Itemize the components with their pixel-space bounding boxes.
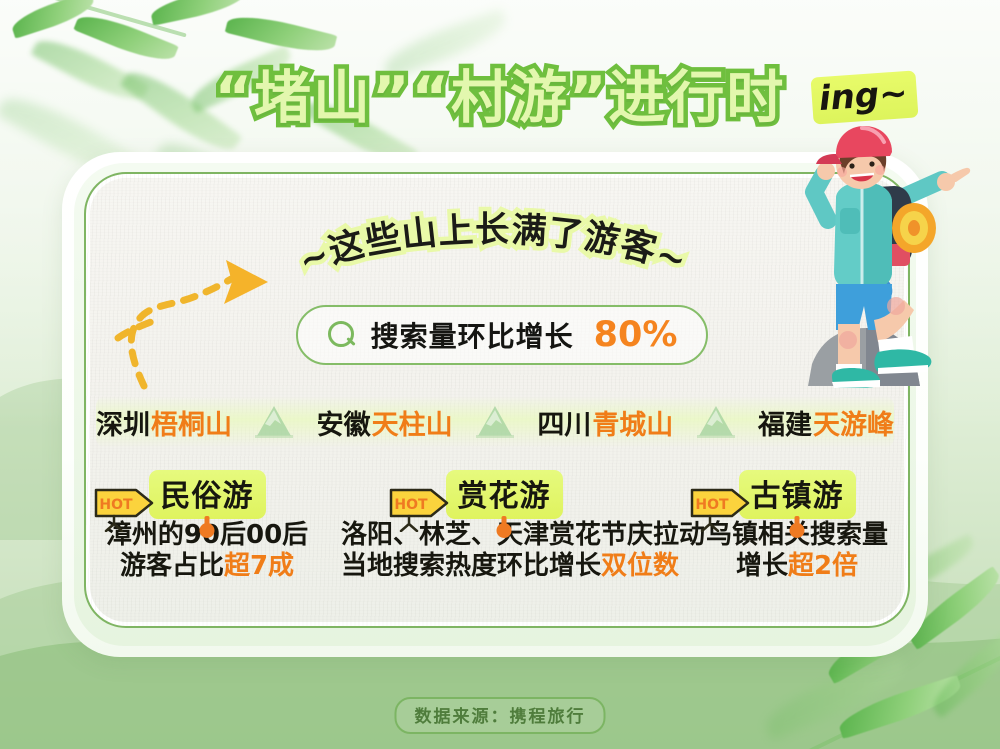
mountain-name: 青城山 <box>592 403 673 442</box>
stat-card-header: HOT 古镇游 <box>694 470 900 520</box>
stat-card-line2-highlight: 超2倍 <box>788 551 858 581</box>
search-stat-pill: 搜索量环比增长 80% <box>296 305 708 365</box>
stat-card-line2-prefix: 增长 <box>736 551 788 581</box>
mountain-item-3: 福建 天游峰 <box>758 403 894 442</box>
mountain-name: 梧桐山 <box>151 403 232 442</box>
infographic-canvas: “堵山”“村游”进行时 ing~ ~这些山上长满了游客~ 搜索量环比增长 80%… <box>0 0 1000 749</box>
stat-card-line2: 当地搜索热度环比增长双位数 <box>341 551 667 582</box>
svg-text:HOT: HOT <box>695 497 729 513</box>
mountain-city: 安徽 <box>317 403 371 442</box>
mountain-item-1: 安徽 天柱山 <box>317 403 453 442</box>
data-source-footer: 数据来源：携程旅行 <box>395 697 606 734</box>
hiker-character <box>762 124 992 399</box>
stat-card-header: HOT 民俗游 <box>100 470 314 520</box>
stat-card-title: 赏花游 <box>446 470 563 519</box>
stat-card-title: 民俗游 <box>149 470 266 519</box>
stat-card-0: HOT 民俗游 漳州的90后00后 游客占比超7成 <box>100 470 314 620</box>
mountain-name: 天柱山 <box>372 403 453 442</box>
stat-card-line2: 增长超2倍 <box>694 551 900 582</box>
mountain-city: 四川 <box>537 403 591 442</box>
svg-text:HOT: HOT <box>99 497 133 513</box>
ing-badge: ing~ <box>810 70 918 124</box>
curved-subtitle-text: ~这些山上长满了游客~ <box>293 211 692 283</box>
hot-signpost-icon: HOT <box>688 486 754 532</box>
page-title: “堵山”“村游”进行时 <box>215 52 786 134</box>
pin-marker-icon <box>790 516 805 538</box>
mountain-icon <box>472 402 518 442</box>
stat-card-2: HOT 古镇游 乌镇相关搜索量 增长超2倍 <box>694 470 900 620</box>
hot-signpost-icon: HOT <box>387 486 453 532</box>
mountain-icon <box>251 402 297 442</box>
mountain-city: 福建 <box>758 403 812 442</box>
dashed-arrow-icon <box>100 260 280 390</box>
stat-card-line2-prefix: 当地搜索热度环比增长 <box>341 551 601 581</box>
curved-subtitle: ~这些山上长满了游客~ <box>258 216 728 306</box>
stat-card-1: HOT 赏花游 洛阳、林芝、天津赏花节庆拉动 当地搜索热度环比增长双位数 <box>341 470 667 620</box>
stat-card-list: HOT 民俗游 漳州的90后00后 游客占比超7成 HOT <box>100 470 900 620</box>
stat-card-header: HOT 赏花游 <box>341 470 667 520</box>
stat-card-title: 古镇游 <box>739 470 856 519</box>
stat-card-line2-highlight: 超7成 <box>224 551 294 581</box>
stat-card-line2-highlight: 双位数 <box>601 551 679 581</box>
mountain-city: 深圳 <box>96 403 150 442</box>
search-icon <box>327 320 357 350</box>
hot-signpost-icon: HOT <box>92 486 158 532</box>
search-stat-label: 搜索量环比增长 <box>371 315 574 355</box>
mountain-item-0: 深圳 梧桐山 <box>96 403 232 442</box>
mountain-list: 深圳 梧桐山 安徽 天柱山 四川 青城山 <box>96 396 894 448</box>
svg-text:HOT: HOT <box>394 497 428 513</box>
stat-card-line2-prefix: 游客占比 <box>120 551 224 581</box>
stat-card-line2: 游客占比超7成 <box>100 551 314 582</box>
mountain-icon <box>693 402 739 442</box>
search-stat-value: 80% <box>594 315 678 355</box>
pin-marker-icon <box>497 516 512 538</box>
mountain-item-2: 四川 青城山 <box>537 403 673 442</box>
pin-marker-icon <box>200 516 215 538</box>
mountain-name: 天游峰 <box>813 403 894 442</box>
